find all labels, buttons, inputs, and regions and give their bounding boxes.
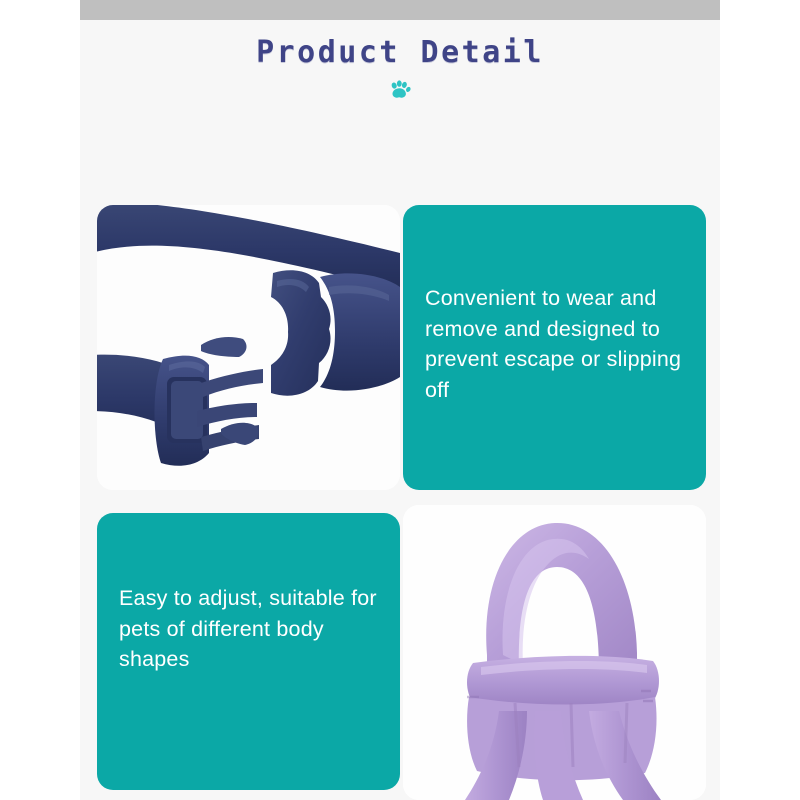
product-detail-page: Product Detail [0, 0, 800, 800]
feature-card-wear-remove: Convenient to wear and remove and design… [403, 205, 706, 490]
paw-print-icon [80, 79, 720, 101]
feature-card-inner: Convenient to wear and remove and design… [403, 205, 706, 490]
product-photo-buckle [97, 205, 400, 490]
top-gray-bar [80, 0, 720, 20]
photo-scene-buckle [97, 205, 400, 490]
page-header: Product Detail [80, 36, 720, 101]
product-photo-slider [403, 505, 706, 800]
feature-text-adjust: Easy to adjust, suitable for pets of dif… [119, 583, 378, 675]
page-title: Product Detail [80, 36, 720, 69]
feature-card-adjust: Easy to adjust, suitable for pets of dif… [97, 513, 400, 790]
photo-scene-slider [403, 505, 706, 800]
feature-card-inner: Easy to adjust, suitable for pets of dif… [97, 513, 400, 790]
feature-text-wear-remove: Convenient to wear and remove and design… [425, 283, 684, 405]
